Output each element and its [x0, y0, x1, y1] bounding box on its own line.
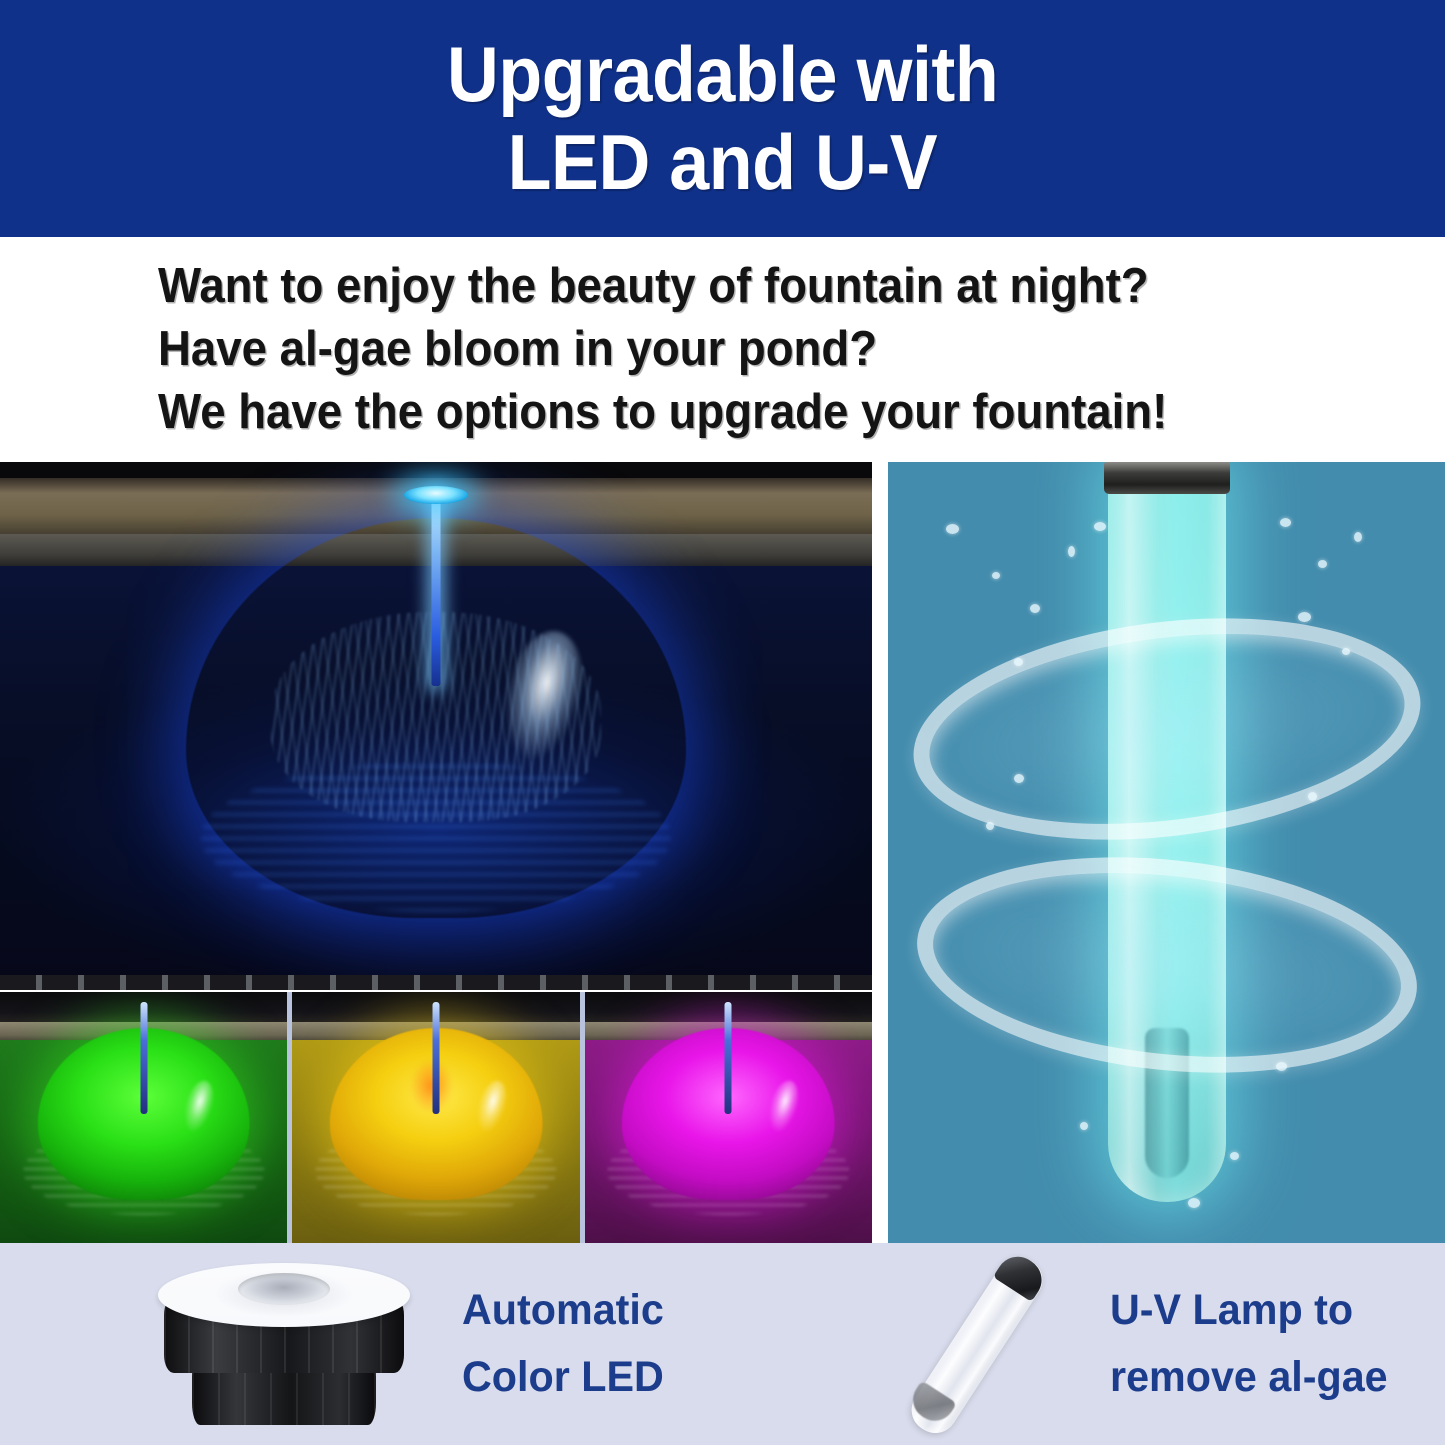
- thumb-fountain-nozzle: [140, 1002, 147, 1114]
- uv-caption-line-1: U-V Lamp to: [1110, 1277, 1388, 1344]
- header-title-line-1: Upgradable with: [447, 34, 998, 116]
- uv-caption-line-2: remove al-gae: [1110, 1344, 1388, 1411]
- media-area: [0, 462, 1445, 1243]
- thumb-fountain-nozzle: [432, 1002, 439, 1114]
- subtitle-block: Want to enjoy the beauty of fountain at …: [0, 237, 1445, 462]
- uv-caption-text: U-V Lamp to remove al-gae: [1110, 1277, 1399, 1410]
- led-caption-line-1: Automatic: [462, 1277, 664, 1344]
- magenta-led-fountain-thumbnail: [580, 992, 872, 1243]
- hero-fountain-nozzle-head: [404, 486, 468, 504]
- water-swirl-lower: [906, 834, 1427, 1095]
- subtitle-line-3: We have the options to upgrade your foun…: [158, 381, 1355, 444]
- hero-fountain-nozzle-stem: [432, 490, 441, 686]
- blue-led-fountain-photo: [0, 462, 872, 990]
- caption-panel: Automatic Color LED U-V Lamp to remove a…: [0, 1243, 1445, 1445]
- thumb-dome-highlight: [472, 1077, 511, 1134]
- led-caption-text: Automatic Color LED: [462, 1277, 672, 1410]
- led-caption-line-2: Color LED: [462, 1344, 664, 1411]
- subtitle-line-2: Have al-gae bloom in your pond?: [158, 318, 1355, 381]
- uv-lamp-illustration-panel: [888, 462, 1445, 1243]
- thumb-fountain-nozzle: [725, 1002, 732, 1114]
- hero-floor-grate: [0, 975, 872, 990]
- header-title-line-2: LED and U-V: [508, 122, 937, 204]
- yellow-led-fountain-thumbnail: [287, 992, 579, 1243]
- uv-lamp-top-cap: [1104, 462, 1230, 494]
- automatic-color-led-module-image: [150, 1259, 420, 1429]
- led-caption-cell: Automatic Color LED: [0, 1243, 872, 1445]
- led-module-lens-center: [238, 1273, 330, 1305]
- product-infographic: Upgradable with LED and U-V Want to enjo…: [0, 0, 1445, 1445]
- led-media-column: [0, 462, 872, 1243]
- header-banner: Upgradable with LED and U-V: [0, 0, 1445, 237]
- water-swirl-upper: [900, 592, 1432, 867]
- subtitle-line-1: Want to enjoy the beauty of fountain at …: [158, 255, 1355, 318]
- green-led-fountain-thumbnail: [0, 992, 287, 1243]
- led-color-thumbnail-strip: [0, 992, 872, 1243]
- thumb-dome-highlight: [180, 1077, 219, 1134]
- uv-lamp-tube-image: [894, 1249, 1084, 1439]
- uv-caption-cell: U-V Lamp to remove al-gae: [872, 1243, 1445, 1445]
- led-module-lens-cover: [158, 1263, 410, 1327]
- thumb-dome-highlight: [764, 1077, 803, 1134]
